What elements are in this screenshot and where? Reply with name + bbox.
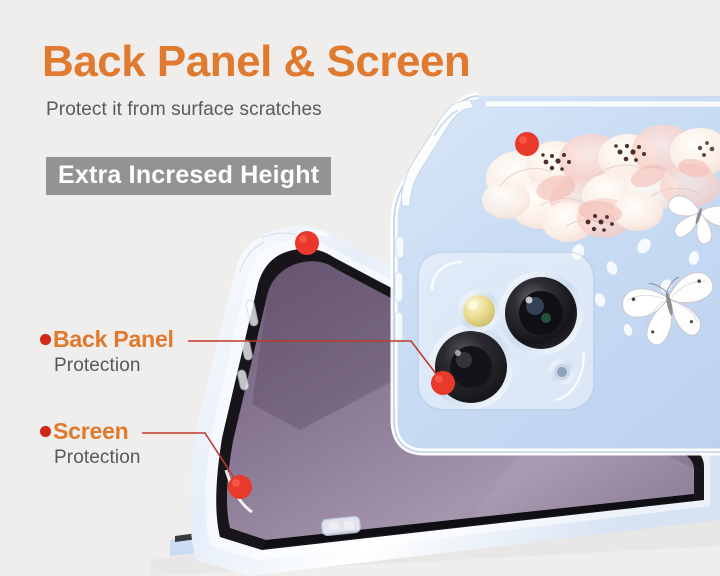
- phone-with-clear-floral-case: [380, 90, 720, 470]
- callout-title: Screen: [53, 418, 129, 445]
- camera-module: [418, 252, 594, 410]
- bullet-dot-icon: [40, 334, 51, 345]
- callout-screen: Screen Protection: [40, 418, 141, 469]
- bullet-dot-icon: [40, 426, 51, 437]
- callout-subtitle: Protection: [54, 447, 141, 469]
- feature-badge: Extra Incresed Height: [46, 157, 331, 195]
- callout-subtitle: Protection: [54, 355, 174, 377]
- page-title: Back Panel & Screen: [42, 40, 470, 84]
- product-illustration: [0, 0, 720, 576]
- callout-title: Back Panel: [53, 326, 174, 353]
- callout-back-panel: Back Panel Protection: [40, 326, 174, 377]
- promo-image-canvas: Back Panel & Screen Protect it from surf…: [0, 0, 720, 576]
- page-subtitle: Protect it from surface scratches: [46, 99, 322, 121]
- case-charging-port: [321, 516, 360, 536]
